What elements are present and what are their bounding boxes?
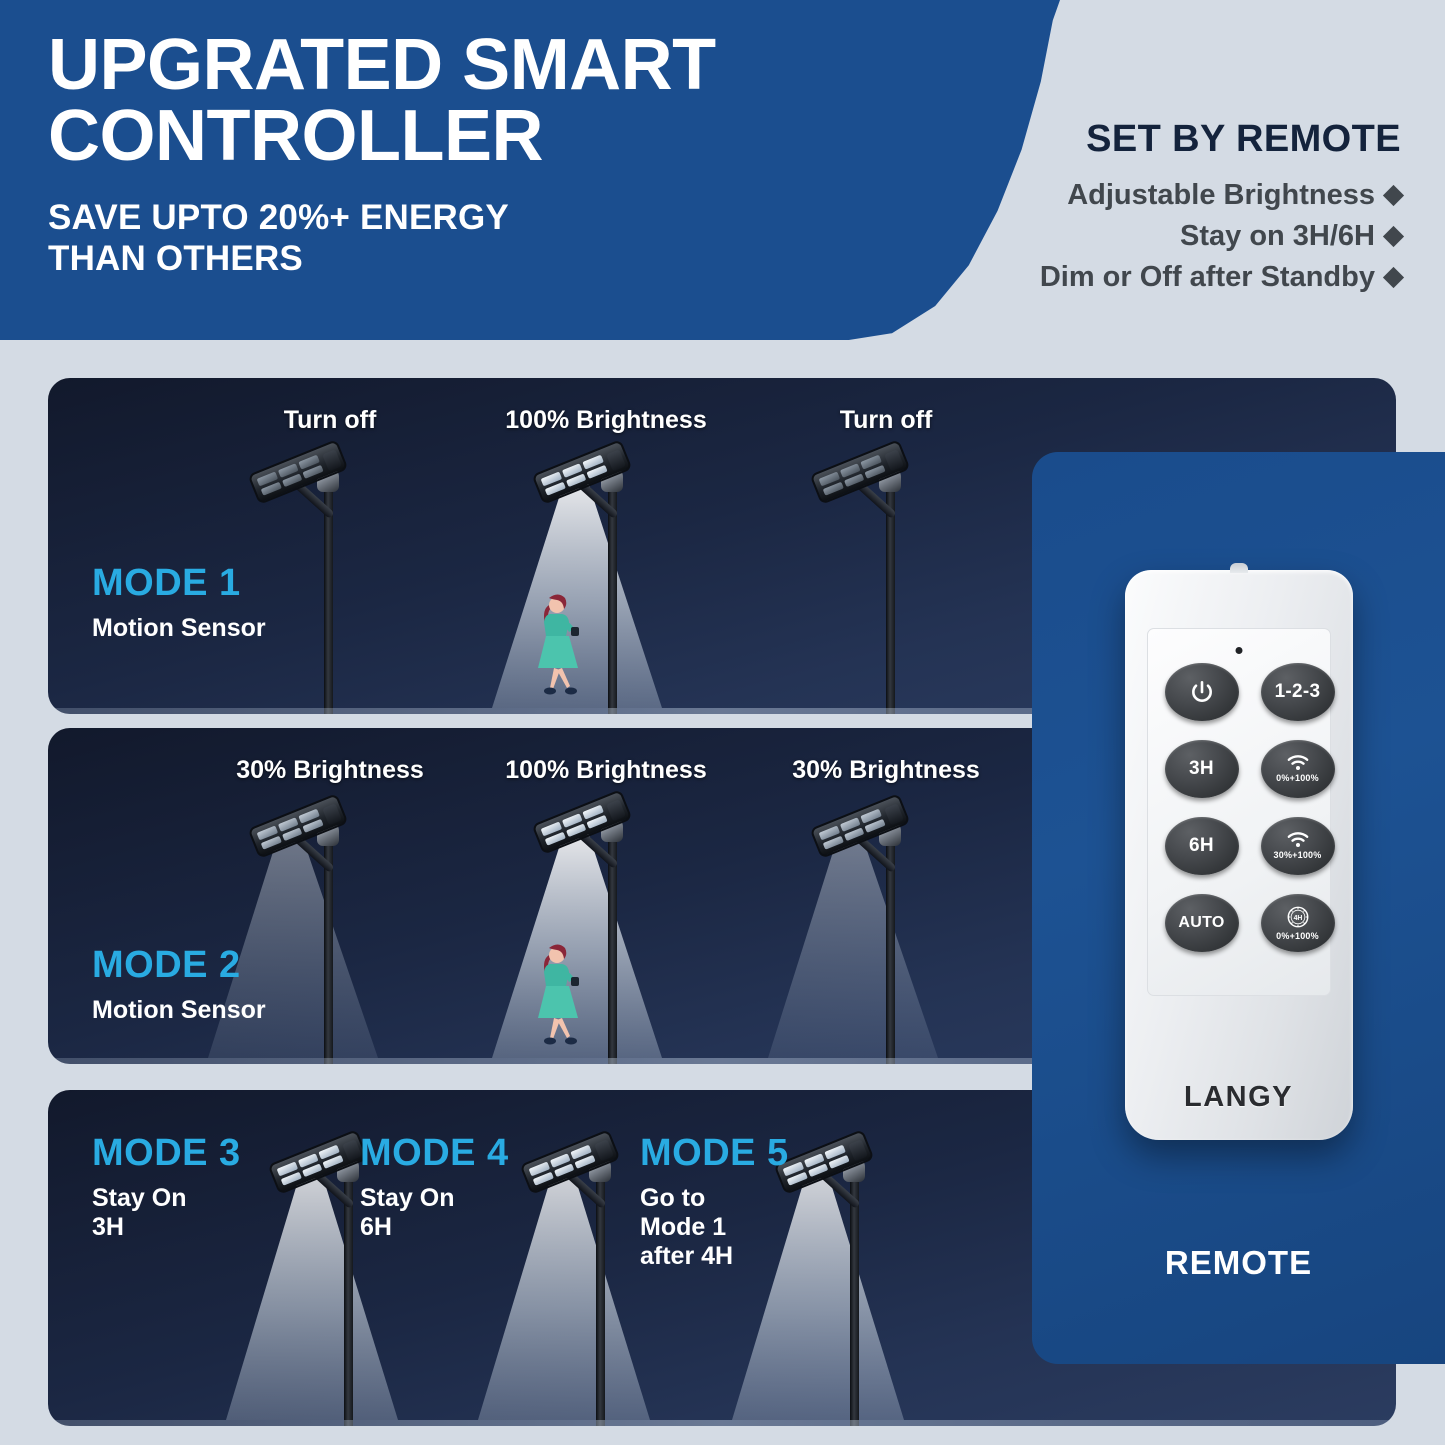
- wifi-icon: [1287, 832, 1309, 848]
- feature-label: Dim or Off after Standby: [1040, 257, 1375, 298]
- header-left-text-group: UPGRATED SMART CONTROLLER SAVE UPTO 20%+…: [48, 30, 838, 280]
- feature-label: Stay on 3H/6H: [1180, 216, 1375, 257]
- mode-2-label-group: MODE 2 Motion Sensor: [92, 946, 266, 1025]
- status-led-icon: [1235, 647, 1242, 654]
- header-right-feature-group: SET BY REMOTE Adjustable Brightness Stay…: [981, 118, 1401, 299]
- mode-1-caption-center: 100% Brightness: [505, 406, 706, 435]
- pedestrian-figure: [530, 942, 584, 1048]
- mode-2-caption-center: 100% Brightness: [505, 756, 706, 785]
- six-hour-label: 6H: [1189, 835, 1214, 857]
- pedestrian-figure: [530, 592, 584, 698]
- wifi-icon: [1287, 755, 1309, 771]
- diamond-bullet-icon: [1383, 226, 1404, 247]
- auto-label: AUTO: [1178, 914, 1224, 932]
- mode-5-subtitle: Go to Mode 1 after 4H: [640, 1184, 789, 1271]
- three-hour-label: 3H: [1189, 758, 1214, 780]
- page-subtitle: SAVE UPTO 20%+ ENERGY THAN OTHERS: [48, 197, 838, 280]
- diamond-bullet-icon: [1383, 185, 1404, 206]
- set-by-remote-heading: SET BY REMOTE: [981, 118, 1401, 161]
- mode-1-subtitle: Motion Sensor: [92, 614, 266, 643]
- three-hour-button[interactable]: 3H: [1165, 740, 1239, 798]
- mode-4-subtitle: Stay On 6H: [360, 1184, 509, 1242]
- mode-5-label-group: MODE 5 Go to Mode 1 after 4H: [640, 1134, 789, 1271]
- page-title: UPGRATED SMART CONTROLLER: [48, 30, 838, 171]
- mode-4-title: MODE 4: [360, 1134, 509, 1172]
- sensor-30-100-label: 30%+100%: [1274, 850, 1322, 860]
- mode-3-title: MODE 3: [92, 1134, 241, 1172]
- feature-item: Adjustable Brightness: [981, 175, 1401, 216]
- mode-1-caption-right: Turn off: [840, 406, 933, 435]
- mode-4-label-group: MODE 4 Stay On 6H: [360, 1134, 509, 1242]
- timer-4h-button[interactable]: 4H 0%+100%: [1261, 894, 1335, 952]
- diamond-bullet-icon: [1383, 267, 1404, 288]
- timer-4h-label: 0%+100%: [1276, 931, 1319, 941]
- ground-line: [48, 1420, 1396, 1426]
- ir-emitter-icon: [1230, 563, 1248, 573]
- mode-1-caption-left: Turn off: [284, 406, 377, 435]
- sensor-0-100-label: 0%+100%: [1276, 773, 1319, 783]
- feature-item: Dim or Off after Standby: [981, 257, 1401, 298]
- remote-button-grid: 1-2-3 3H 0%+100% 6H: [1165, 663, 1313, 952]
- feature-item: Stay on 3H/6H: [981, 216, 1401, 257]
- power-button[interactable]: [1165, 663, 1239, 721]
- mode-1-label-group: MODE 1 Motion Sensor: [92, 564, 266, 643]
- brand-logo: LANGY: [1125, 1081, 1353, 1114]
- mode-1-title: MODE 1: [92, 564, 266, 602]
- mode-3-subtitle: Stay On 3H: [92, 1184, 241, 1242]
- svg-text:4H: 4H: [1293, 915, 1302, 922]
- six-hour-button[interactable]: 6H: [1165, 817, 1239, 875]
- mode-2-title: MODE 2: [92, 946, 266, 984]
- power-icon: [1189, 679, 1215, 705]
- sensor-0-100-button[interactable]: 0%+100%: [1261, 740, 1335, 798]
- clock-4h-icon: 4H: [1286, 905, 1310, 929]
- mode-2-caption-right: 30% Brightness: [792, 756, 980, 785]
- mode-2-caption-left: 30% Brightness: [236, 756, 424, 785]
- mode-2-subtitle: Motion Sensor: [92, 996, 266, 1025]
- auto-button[interactable]: AUTO: [1165, 894, 1239, 952]
- remote-control-device: 1-2-3 3H 0%+100% 6H: [1125, 570, 1353, 1140]
- feature-label: Adjustable Brightness: [1067, 175, 1375, 216]
- mode-5-title: MODE 5: [640, 1134, 789, 1172]
- remote-caption: REMOTE: [1032, 1244, 1445, 1282]
- mode-3-label-group: MODE 3 Stay On 3H: [92, 1134, 241, 1242]
- mode-cycle-button[interactable]: 1-2-3: [1261, 663, 1335, 721]
- mode-cycle-label: 1-2-3: [1275, 681, 1321, 703]
- remote-keypad: 1-2-3 3H 0%+100% 6H: [1147, 628, 1331, 996]
- sensor-30-100-button[interactable]: 30%+100%: [1261, 817, 1335, 875]
- remote-showcase-card: 1-2-3 3H 0%+100% 6H: [1032, 452, 1445, 1364]
